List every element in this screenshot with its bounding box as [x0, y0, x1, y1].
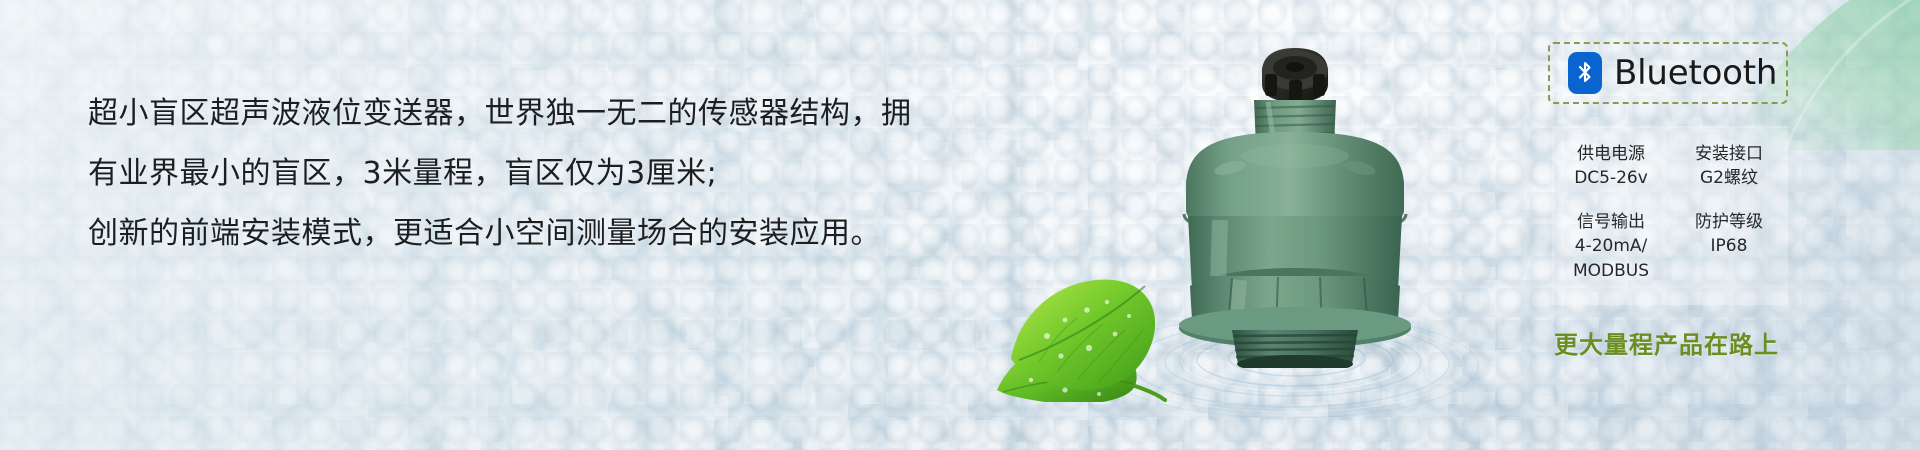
spec-value: DC5-26v — [1552, 166, 1670, 190]
spec-key: 供电电源 — [1552, 142, 1670, 166]
product-banner: 超小盲区超声波液位变送器，世界独一无二的传感器结构，拥 有业界最小的盲区，3米量… — [0, 0, 1920, 450]
spec-item-interface: 安装接口 G2螺纹 — [1670, 142, 1788, 190]
spec-item-output: 信号输出 4-20mA/ MODBUS — [1552, 210, 1670, 282]
bluetooth-label: Bluetooth — [1614, 53, 1777, 93]
spec-key: 防护等级 — [1670, 210, 1788, 234]
spec-value: G2螺纹 — [1670, 166, 1788, 190]
info-column: Bluetooth 供电电源 DC5-26v 安装接口 G2螺纹 信号输出 4-… — [1548, 42, 1808, 360]
headline-line-2: 有业界最小的盲区，3米量程，盲区仅为3厘米; — [88, 152, 918, 196]
spec-key: 安装接口 — [1670, 142, 1788, 166]
ultrasonic-level-sensor-image — [1170, 28, 1420, 368]
spec-item-power: 供电电源 DC5-26v — [1552, 142, 1670, 190]
headline-copy: 超小盲区超声波液位变送器，世界独一无二的传感器结构，拥 有业界最小的盲区，3米量… — [88, 92, 918, 255]
spec-value: IP68 — [1670, 234, 1788, 258]
headline-line-1: 超小盲区超声波液位变送器，世界独一无二的传感器结构，拥 — [88, 92, 918, 136]
spec-card: 供电电源 DC5-26v 安装接口 G2螺纹 信号输出 4-20mA/ MODB… — [1552, 126, 1788, 305]
spec-item-protection: 防护等级 IP68 — [1670, 210, 1788, 282]
bluetooth-badge: Bluetooth — [1548, 42, 1788, 104]
tagline-text: 更大量程产品在路上 — [1554, 325, 1808, 360]
spec-value: 4-20mA/ MODBUS — [1552, 234, 1670, 282]
bluetooth-icon — [1568, 52, 1602, 94]
headline-line-3: 创新的前端安装模式，更适合小空间测量场合的安装应用。 — [88, 212, 918, 256]
spec-key: 信号输出 — [1552, 210, 1670, 234]
